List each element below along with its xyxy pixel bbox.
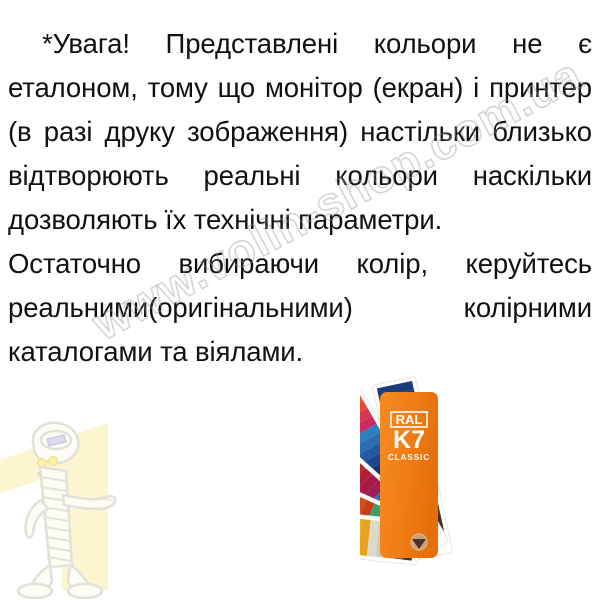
ral-logo-k7: K7 — [393, 426, 425, 454]
ral-k7-fandeck-image: RAL K7 CLASSIC — [360, 368, 600, 573]
disclaimer-paragraph-1: *Увага! Представлені кольори не є еталон… — [8, 22, 592, 242]
color-disclaimer-notice: *Увага! Представлені кольори не є еталон… — [8, 22, 592, 374]
fandeck-cover-card: RAL K7 CLASSIC — [380, 392, 438, 558]
screenshot-canvas: *Увага! Представлені кольори не є еталон… — [0, 0, 600, 600]
screw-mascot-logo — [0, 415, 175, 600]
numeral-one-shape — [0, 423, 108, 590]
ral-logo-word: RAL — [396, 412, 423, 427]
screw-mascot-figure — [18, 423, 115, 598]
disclaimer-paragraph-2: Остаточно вибираючи колір, керуйтесь реа… — [8, 242, 592, 374]
ral-logo-classic: CLASSIC — [388, 453, 430, 462]
